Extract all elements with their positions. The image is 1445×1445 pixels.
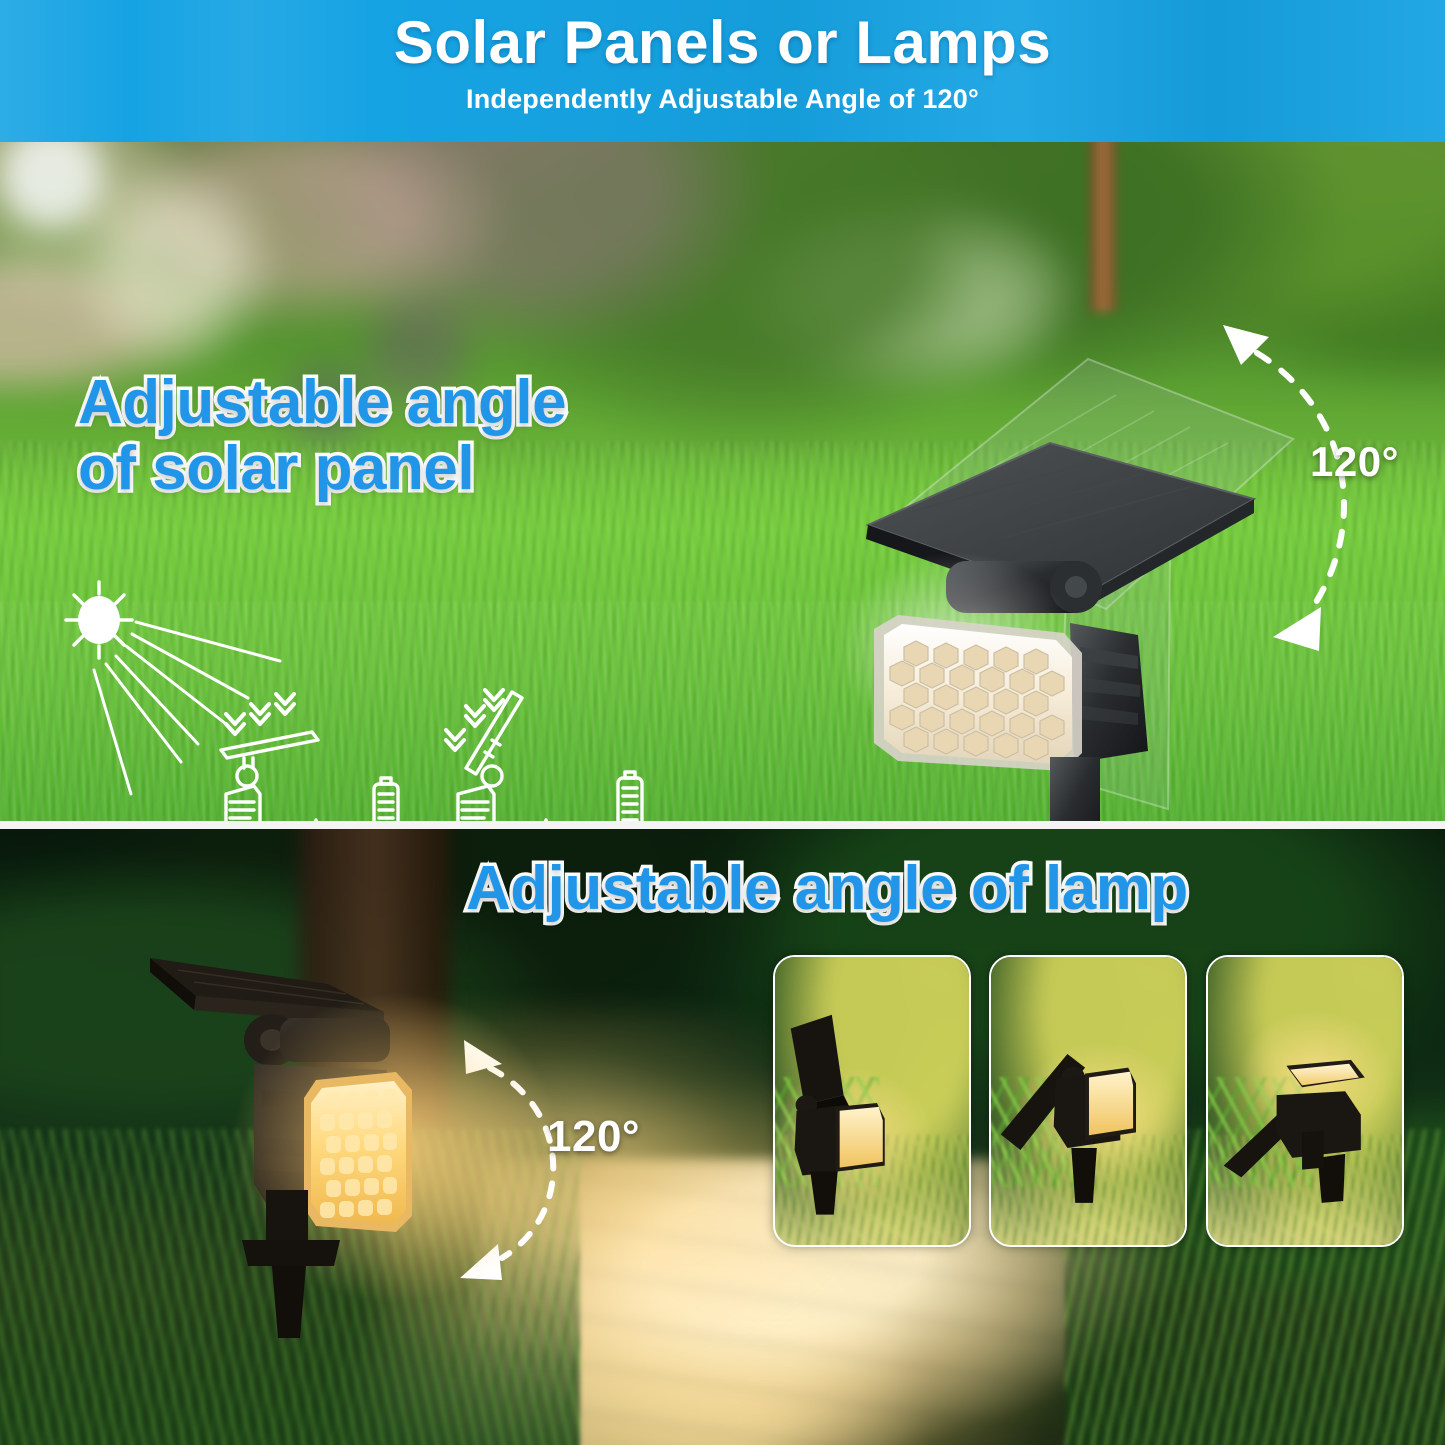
down-chevrons-icon	[226, 694, 294, 734]
banner-subtitle-text: Independently Adjustable Angle of	[466, 84, 922, 114]
lamp-figure-3	[1208, 957, 1402, 1245]
lamp-figure-1	[775, 957, 969, 1245]
banner-subtitle: Independently Adjustable Angle of 120°	[0, 84, 1445, 115]
solar-lamp-tilted-panel-icon	[458, 692, 522, 821]
lamp-angle-thumbnail-1[interactable]	[773, 955, 971, 1247]
solar-spotlight-lit	[150, 940, 570, 1340]
bottom-angle-label: 120°	[547, 1112, 640, 1162]
solar-spotlight-product	[838, 347, 1298, 821]
lamp-figure-2	[991, 957, 1185, 1245]
wooden-post	[1090, 142, 1116, 312]
banner-subtitle-angle: 120°	[922, 84, 979, 114]
lamp-angle-thumbnail-3[interactable]	[1206, 955, 1404, 1247]
product-infographic: Solar Panels or Lamps Independently Adju…	[0, 0, 1445, 1445]
led-array	[890, 641, 1064, 760]
battery-full-icon	[618, 772, 642, 821]
solar-panel-angle-section: Adjustable angle of solar panel 120°	[0, 142, 1445, 821]
solar-lamp-flat-panel-icon	[221, 732, 318, 821]
header-banner: Solar Panels or Lamps Independently Adju…	[0, 0, 1445, 142]
section-divider	[0, 821, 1445, 829]
charging-diagram	[48, 572, 708, 821]
bottom-panel-heading: Adjustable angle of lamp	[466, 856, 1188, 922]
led-head	[836, 552, 1082, 771]
battery-half-icon	[374, 778, 398, 821]
lamp-angle-thumbnail-2[interactable]	[989, 955, 1187, 1247]
top-angle-label: 120°	[1310, 438, 1399, 486]
top-panel-heading: Adjustable angle of solar panel	[78, 370, 566, 501]
banner-title: Solar Panels or Lamps	[0, 8, 1445, 77]
